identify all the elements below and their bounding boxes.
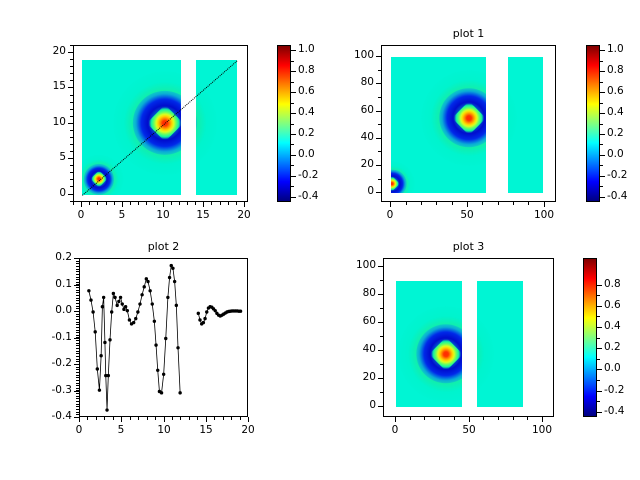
ytick-minor [76,263,79,264]
line-series-marker [124,305,127,308]
xtick-minor [240,417,241,420]
line-series-marker [202,321,205,324]
line-series-marker [121,302,124,305]
heatmap-data-patch [508,57,543,194]
ytick-minor [380,350,383,351]
xtick-minor [214,417,215,420]
ytick-minor [70,137,73,138]
colorbar-tick [291,155,296,156]
colorbar-tick-label: -0.2 [298,169,319,181]
ytick-minor [70,102,73,103]
xtick-label: 10 [143,209,183,221]
xtick-minor [114,202,115,205]
colorbar-tick-minor [600,61,603,62]
xtick-minor [223,417,224,420]
ytick-minor [70,66,73,67]
colorbar-tick [291,71,296,72]
heatmap-data-patch [196,60,237,194]
colorbar-tick-label: -0.2 [604,384,625,396]
ytick-minor [76,356,79,357]
line-series-marker [197,312,200,315]
ytick-minor [76,303,79,304]
ytick-label: 80 [333,287,376,299]
xtick-minor [106,202,107,205]
ytick-minor [70,151,73,152]
line-series-marker [175,304,178,307]
colorbar-tick [597,412,602,413]
line-series-marker [203,317,206,320]
ytick-label: 0.2 [29,251,72,263]
line-series-marker [146,280,149,283]
xtick-label: 15 [186,424,226,436]
ytick-minor [70,172,73,173]
xtick-minor [498,417,499,420]
line-series-marker [166,296,169,299]
ytick-minor [76,261,79,262]
ytick-minor [380,280,383,281]
title-bottom-right: plot 3 [383,240,554,253]
line-series-marker [160,391,163,394]
ytick-major [74,285,79,286]
ytick-minor [76,337,79,338]
colorbar-tick [291,113,296,114]
ytick-minor [378,97,381,98]
ytick-label: 40 [333,343,376,355]
ytick-minor [76,332,79,333]
ytick-minor [76,284,79,285]
line-series-marker [99,354,102,357]
xtick-minor [436,202,437,205]
ytick-label: 10 [23,116,66,128]
ytick-minor [76,364,79,365]
heatmap-data-patch [477,281,523,407]
xtick-minor [97,202,98,205]
xtick-minor [121,417,122,420]
ytick-minor [76,377,79,378]
xtick-minor [483,417,484,420]
ytick-label: 0.1 [29,278,72,290]
colorbar-tick-minor [600,82,603,83]
line-series-marker [143,285,146,288]
xtick-minor [439,417,440,420]
line-series-marker [156,369,159,372]
colorbar-tick-minor [600,103,603,104]
ytick-minor [76,380,79,381]
xtick-minor [421,202,422,205]
colorbar-tick [600,50,605,51]
line-series-marker [98,388,101,391]
line-series-marker [176,346,179,349]
line-series-marker [239,310,242,313]
line-series-marker [164,337,167,340]
colorbar-tick-label: 0.0 [607,148,624,160]
ytick-minor [380,406,383,407]
line-series-marker [140,293,143,296]
line-series-marker [178,391,181,394]
colorbar-top-left [277,45,291,202]
xtick-minor [147,417,148,420]
xtick-minor [104,417,105,420]
line-series-marker [117,300,120,303]
colorbar-tick-label: 0.0 [604,362,621,374]
line-series-marker [138,302,141,305]
xtick-minor [179,202,180,205]
ytick-minor [76,258,79,259]
ytick-minor [76,306,79,307]
ytick-minor [76,311,79,312]
line-series-marker [136,310,139,313]
line-series-marker [151,302,154,305]
xtick-label: 15 [183,209,223,221]
xtick-minor [138,417,139,420]
xtick-minor [130,417,131,420]
colorbar-tick [291,50,296,51]
ytick-minor [70,59,73,60]
ytick-minor [380,322,383,323]
ytick-minor [76,409,79,410]
xtick-minor [228,202,229,205]
ytick-minor [76,412,79,413]
ytick-label: 100 [331,49,374,61]
colorbar-tick [597,369,602,370]
colorbar-tick [600,155,605,156]
colorbar-tick-minor [597,401,600,402]
xtick-minor [206,417,207,420]
xtick-minor [87,417,88,420]
ytick-label: 20 [23,45,66,57]
ytick-minor [76,282,79,283]
line-series-marker [105,408,108,411]
colorbar-tick [597,391,602,392]
colorbar-tick [600,134,605,135]
ytick-minor [378,111,381,112]
ytick-minor [70,87,73,88]
xtick-minor [454,417,455,420]
xtick-minor [195,202,196,205]
ytick-minor [70,116,73,117]
xtick-minor [469,417,470,420]
colorbar-tick-label: 0.4 [604,320,621,332]
xtick-minor [79,417,80,420]
colorbar-tick-label: 0.8 [604,278,621,290]
xtick-minor [390,202,391,205]
line-series-marker [119,296,122,299]
ytick-minor [76,404,79,405]
ytick-minor [70,179,73,180]
xtick-label: 0 [59,424,99,436]
colorbar-tick-label: -0.2 [607,169,628,181]
line-series-marker [128,318,131,321]
line-series-marker [168,276,171,279]
ytick-minor [70,158,73,159]
xtick-minor [203,202,204,205]
colorbar-tick-minor [600,165,603,166]
colorbar-tick-label: -0.4 [298,190,319,202]
colorbar-tick-label: 0.2 [607,127,624,139]
line-series-marker [173,280,176,283]
ytick-label: 0.0 [29,304,72,316]
ytick-minor [76,324,79,325]
xtick-label: 50 [447,209,487,221]
xtick-minor [73,202,74,205]
xtick-minor [130,202,131,205]
colorbar-tick-label: 0.4 [607,106,624,118]
ytick-minor [76,383,79,384]
line-series-marker [126,309,129,312]
xtick-minor [542,417,543,420]
ytick-minor [76,361,79,362]
ytick-minor [76,396,79,397]
xtick-minor [155,417,156,420]
ytick-minor [380,294,383,295]
xtick-minor [197,417,198,420]
ytick-minor [76,406,79,407]
line-series-marker [112,292,115,295]
xtick-label: 20 [224,209,264,221]
line-series-marker [107,374,110,377]
colorbar-tick-minor [291,144,294,145]
colorbar-tick [597,327,602,328]
ytick-minor [76,314,79,315]
ytick-minor [76,287,79,288]
ytick-label: 20 [331,158,374,170]
ytick-minor [70,73,73,74]
ytick-minor [70,95,73,96]
ytick-label: 0 [333,399,376,411]
ytick-minor [76,401,79,402]
ytick-minor [378,192,381,193]
ytick-minor [380,336,383,337]
xtick-minor [171,202,172,205]
ytick-minor [378,165,381,166]
colorbar-tick-label: 1.0 [298,43,315,55]
ytick-label: 40 [331,131,374,143]
xtick-minor [164,417,165,420]
ytick-minor [76,279,79,280]
xtick-minor [187,202,188,205]
source-halo [477,306,494,402]
colorbar-tick [600,197,605,198]
xtick-label: 5 [101,424,141,436]
colorbar-tick-minor [291,186,294,187]
xtick-label: 100 [524,209,564,221]
ytick-minor [70,144,73,145]
colorbar-tick-minor [597,316,600,317]
line-series-marker [153,320,156,323]
colorbar-tick-label: 0.0 [298,148,315,160]
colorbar-tick-minor [600,186,603,187]
ytick-minor [76,351,79,352]
colorbar-tick-minor [600,124,603,125]
ytick-minor [378,124,381,125]
colorbar-tick-minor [600,144,603,145]
xtick-minor [180,417,181,420]
heatmap-data-patch [391,57,486,194]
ytick-label: -0.2 [29,357,72,369]
colorbar-tick-label: -0.4 [607,190,628,202]
xtick-minor [527,417,528,420]
ytick-minor [378,70,381,71]
ytick-minor [70,109,73,110]
xtick-minor [482,202,483,205]
colorbar-bottom-right [583,258,597,417]
ytick-minor [70,123,73,124]
colorbar-tick [291,134,296,135]
xtick-label: 100 [522,424,562,436]
ytick-minor [76,274,79,275]
colorbar-tick [597,348,602,349]
ytick-minor [76,322,79,323]
line-plot-canvas [80,259,248,417]
title-bottom-left: plot 2 [79,240,248,253]
line-series-marker [96,367,99,370]
xtick-minor [236,202,237,205]
ytick-minor [76,340,79,341]
ytick-minor [70,165,73,166]
colorbar-tick-minor [597,295,600,296]
ytick-minor [76,393,79,394]
line-series-marker [89,298,92,301]
ytick-minor [76,335,79,336]
ytick-label: 60 [333,315,376,327]
xtick-label: 0 [370,209,410,221]
xtick-minor [424,417,425,420]
ytick-minor [378,83,381,84]
ytick-minor [76,388,79,389]
colorbar-tick [597,306,602,307]
xtick-minor [138,202,139,205]
ytick-label: 60 [331,104,374,116]
ytick-label: 0 [331,185,374,197]
ytick-minor [76,369,79,370]
ytick-minor [76,327,79,328]
xtick-label: 5 [102,209,142,221]
xtick-label: 0 [375,424,415,436]
ytick-minor [76,295,79,296]
colorbar-tick-minor [597,380,600,381]
colorbar-tick [600,176,605,177]
line-series-marker [113,296,116,299]
ytick-minor [378,138,381,139]
line-series-marker [110,310,113,313]
ytick-minor [76,390,79,391]
ytick-minor [70,52,73,53]
colorbar-tick-label: 0.8 [607,64,624,76]
axes-bottom-left [79,258,248,417]
ytick-minor [76,359,79,360]
ytick-label: 0 [23,187,66,199]
ytick-label: 20 [333,371,376,383]
xtick-label: 50 [449,424,489,436]
xtick-minor [96,417,97,420]
xtick-minor [163,202,164,205]
xtick-minor [81,202,82,205]
ytick-minor [378,151,381,152]
xtick-minor [410,417,411,420]
ytick-minor [76,345,79,346]
ytick-label: -0.1 [29,331,72,343]
xtick-minor [248,417,249,420]
ytick-minor [380,378,383,379]
colorbar-tick-minor [291,124,294,125]
ytick-minor [76,316,79,317]
xtick-minor [113,417,114,420]
ytick-minor [70,201,73,202]
ytick-major [74,391,79,392]
colorbar-tick-minor [291,165,294,166]
ytick-minor [76,348,79,349]
xtick-label: 10 [144,424,184,436]
colorbar-tick [600,71,605,72]
colorbar-top-right [586,45,600,202]
line-series-marker [205,310,208,313]
xtick-minor [189,417,190,420]
xtick-minor [513,202,514,205]
ytick-label: 15 [23,80,66,92]
ytick-minor [76,266,79,267]
figure-canvas: plot 1 plot 2 plot 3 0510152005101520-0.… [0,0,640,480]
line-series-marker [171,267,174,270]
ytick-minor [76,330,79,331]
xtick-minor [220,202,221,205]
ytick-minor [76,367,79,368]
xtick-minor [154,202,155,205]
ytick-label: 80 [331,76,374,88]
colorbar-tick-label: 0.2 [298,127,315,139]
xtick-label: 20 [228,424,268,436]
line-series-marker [154,343,157,346]
ytick-minor [76,269,79,270]
line-series-marker [134,317,137,320]
axes-top-right [381,45,556,202]
line-series-marker [198,318,201,321]
ytick-minor [70,130,73,131]
ytick-minor [76,353,79,354]
colorbar-tick [291,176,296,177]
ytick-minor [76,298,79,299]
ytick-minor [380,392,383,393]
ytick-minor [76,398,79,399]
line-series-marker [148,289,151,292]
xtick-minor [146,202,147,205]
colorbar-tick [597,285,602,286]
xtick-minor [395,417,396,420]
axes-bottom-right [383,258,554,417]
xtick-minor [406,202,407,205]
heatmap-data-patch [82,60,180,194]
xtick-minor [544,202,545,205]
colorbar-tick-minor [291,103,294,104]
colorbar-tick [600,92,605,93]
ytick-minor [76,343,79,344]
xtick-minor [452,202,453,205]
xtick-minor [498,202,499,205]
ytick-minor [380,266,383,267]
ytick-minor [70,186,73,187]
colorbar-tick-minor [597,359,600,360]
ytick-minor [378,179,381,180]
xtick-minor [172,417,173,420]
colorbar-tick [291,197,296,198]
line-series-marker [91,310,94,313]
colorbar-tick [291,92,296,93]
ytick-minor [76,385,79,386]
xtick-minor [122,202,123,205]
xtick-label: 0 [61,209,101,221]
colorbar-tick [600,113,605,114]
ytick-minor [76,375,79,376]
xtick-minor [513,417,514,420]
